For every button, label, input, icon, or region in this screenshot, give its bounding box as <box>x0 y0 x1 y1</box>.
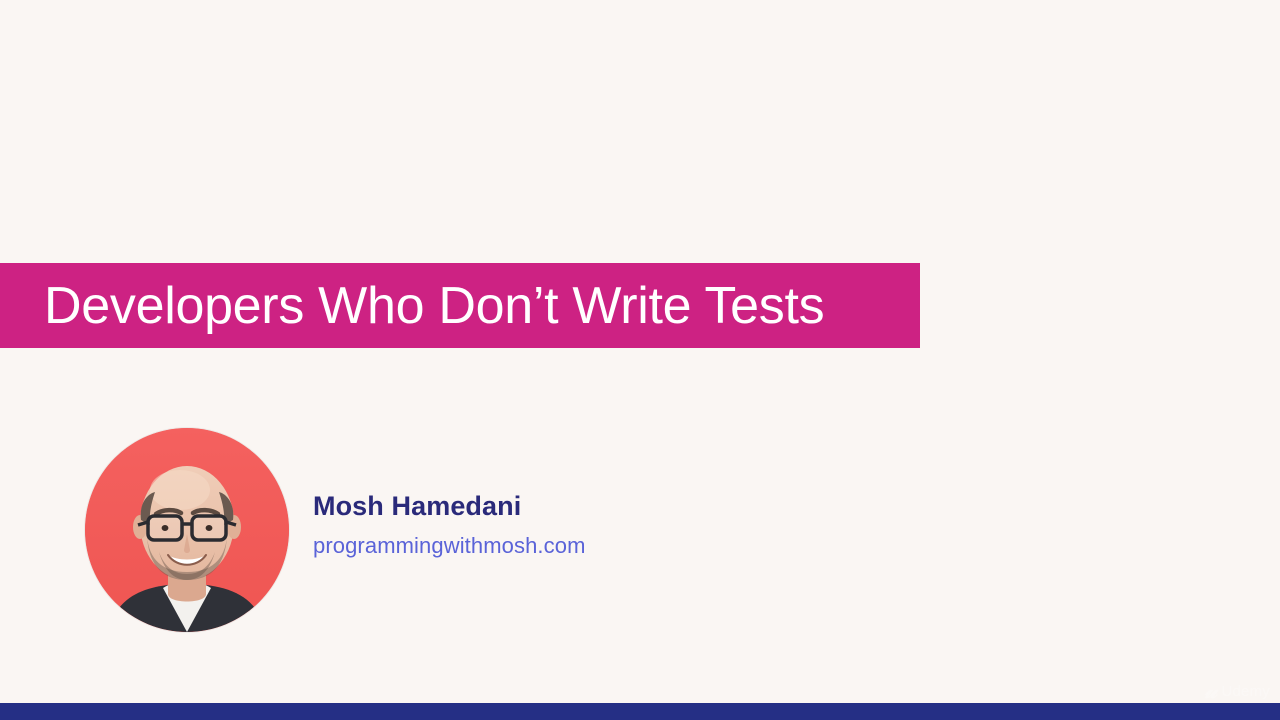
udemy-watermark-label: Udemy <box>1221 684 1270 699</box>
slide-title: Developers Who Don’t Write Tests <box>44 280 824 332</box>
bottom-bar <box>0 703 1280 720</box>
presenter-text: Mosh Hamedani programmingwithmosh.com <box>313 490 586 560</box>
udemy-watermark: 𝓾 Udemy <box>1204 680 1270 702</box>
presenter-name: Mosh Hamedani <box>313 490 586 522</box>
presenter-website: programmingwithmosh.com <box>313 532 586 560</box>
avatar <box>85 428 289 632</box>
udemy-logo-icon: 𝓾 <box>1204 680 1218 702</box>
title-banner: Developers Who Don’t Write Tests <box>0 263 920 348</box>
slide-canvas: Developers Who Don’t Write Tests <box>0 0 1280 720</box>
presenter-block: Mosh Hamedani programmingwithmosh.com <box>85 428 785 640</box>
